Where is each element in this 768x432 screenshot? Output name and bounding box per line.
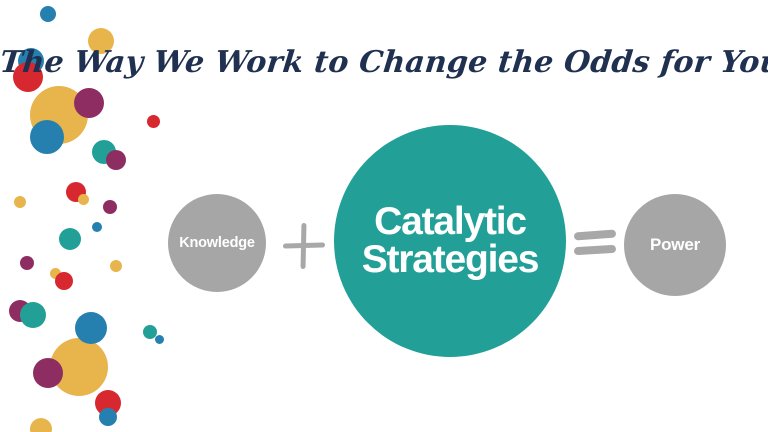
equals-top-stroke <box>574 229 616 240</box>
page-title: The Way We Work to Change the Odds for Y… <box>0 44 768 82</box>
confetti-dot <box>155 335 164 344</box>
confetti-dot <box>55 272 73 290</box>
confetti-dot <box>20 256 34 270</box>
confetti-dot <box>78 194 89 205</box>
confetti-dot <box>74 88 104 118</box>
confetti-dot <box>30 418 52 432</box>
term-catalytic-strategies-label: Catalytic Strategies <box>362 203 539 279</box>
confetti-dot <box>59 228 81 250</box>
confetti-dot <box>110 260 122 272</box>
plus-vertical-stroke <box>301 223 307 269</box>
confetti-dot <box>99 408 117 426</box>
confetti-dot <box>14 196 26 208</box>
term-knowledge-circle: Knowledge <box>168 194 266 292</box>
confetti-dot <box>33 358 63 388</box>
slide-canvas: The Way We Work to Change the Odds for Y… <box>0 0 768 432</box>
plus-operator-icon <box>282 222 326 270</box>
confetti-dot <box>75 312 107 344</box>
confetti-dot <box>40 6 56 22</box>
confetti-dot <box>103 200 117 214</box>
term-power-circle: Power <box>624 194 726 296</box>
confetti-dot <box>92 222 102 232</box>
term-power-label: Power <box>650 235 700 255</box>
confetti-dot <box>147 115 160 128</box>
confetti-dot <box>30 120 64 154</box>
equals-bottom-stroke <box>574 245 616 255</box>
equals-operator-icon <box>574 226 618 266</box>
term-catalytic-strategies-circle: Catalytic Strategies <box>334 125 566 357</box>
term-knowledge-label: Knowledge <box>179 235 255 251</box>
confetti-dot <box>106 150 126 170</box>
confetti-dot <box>20 302 46 328</box>
